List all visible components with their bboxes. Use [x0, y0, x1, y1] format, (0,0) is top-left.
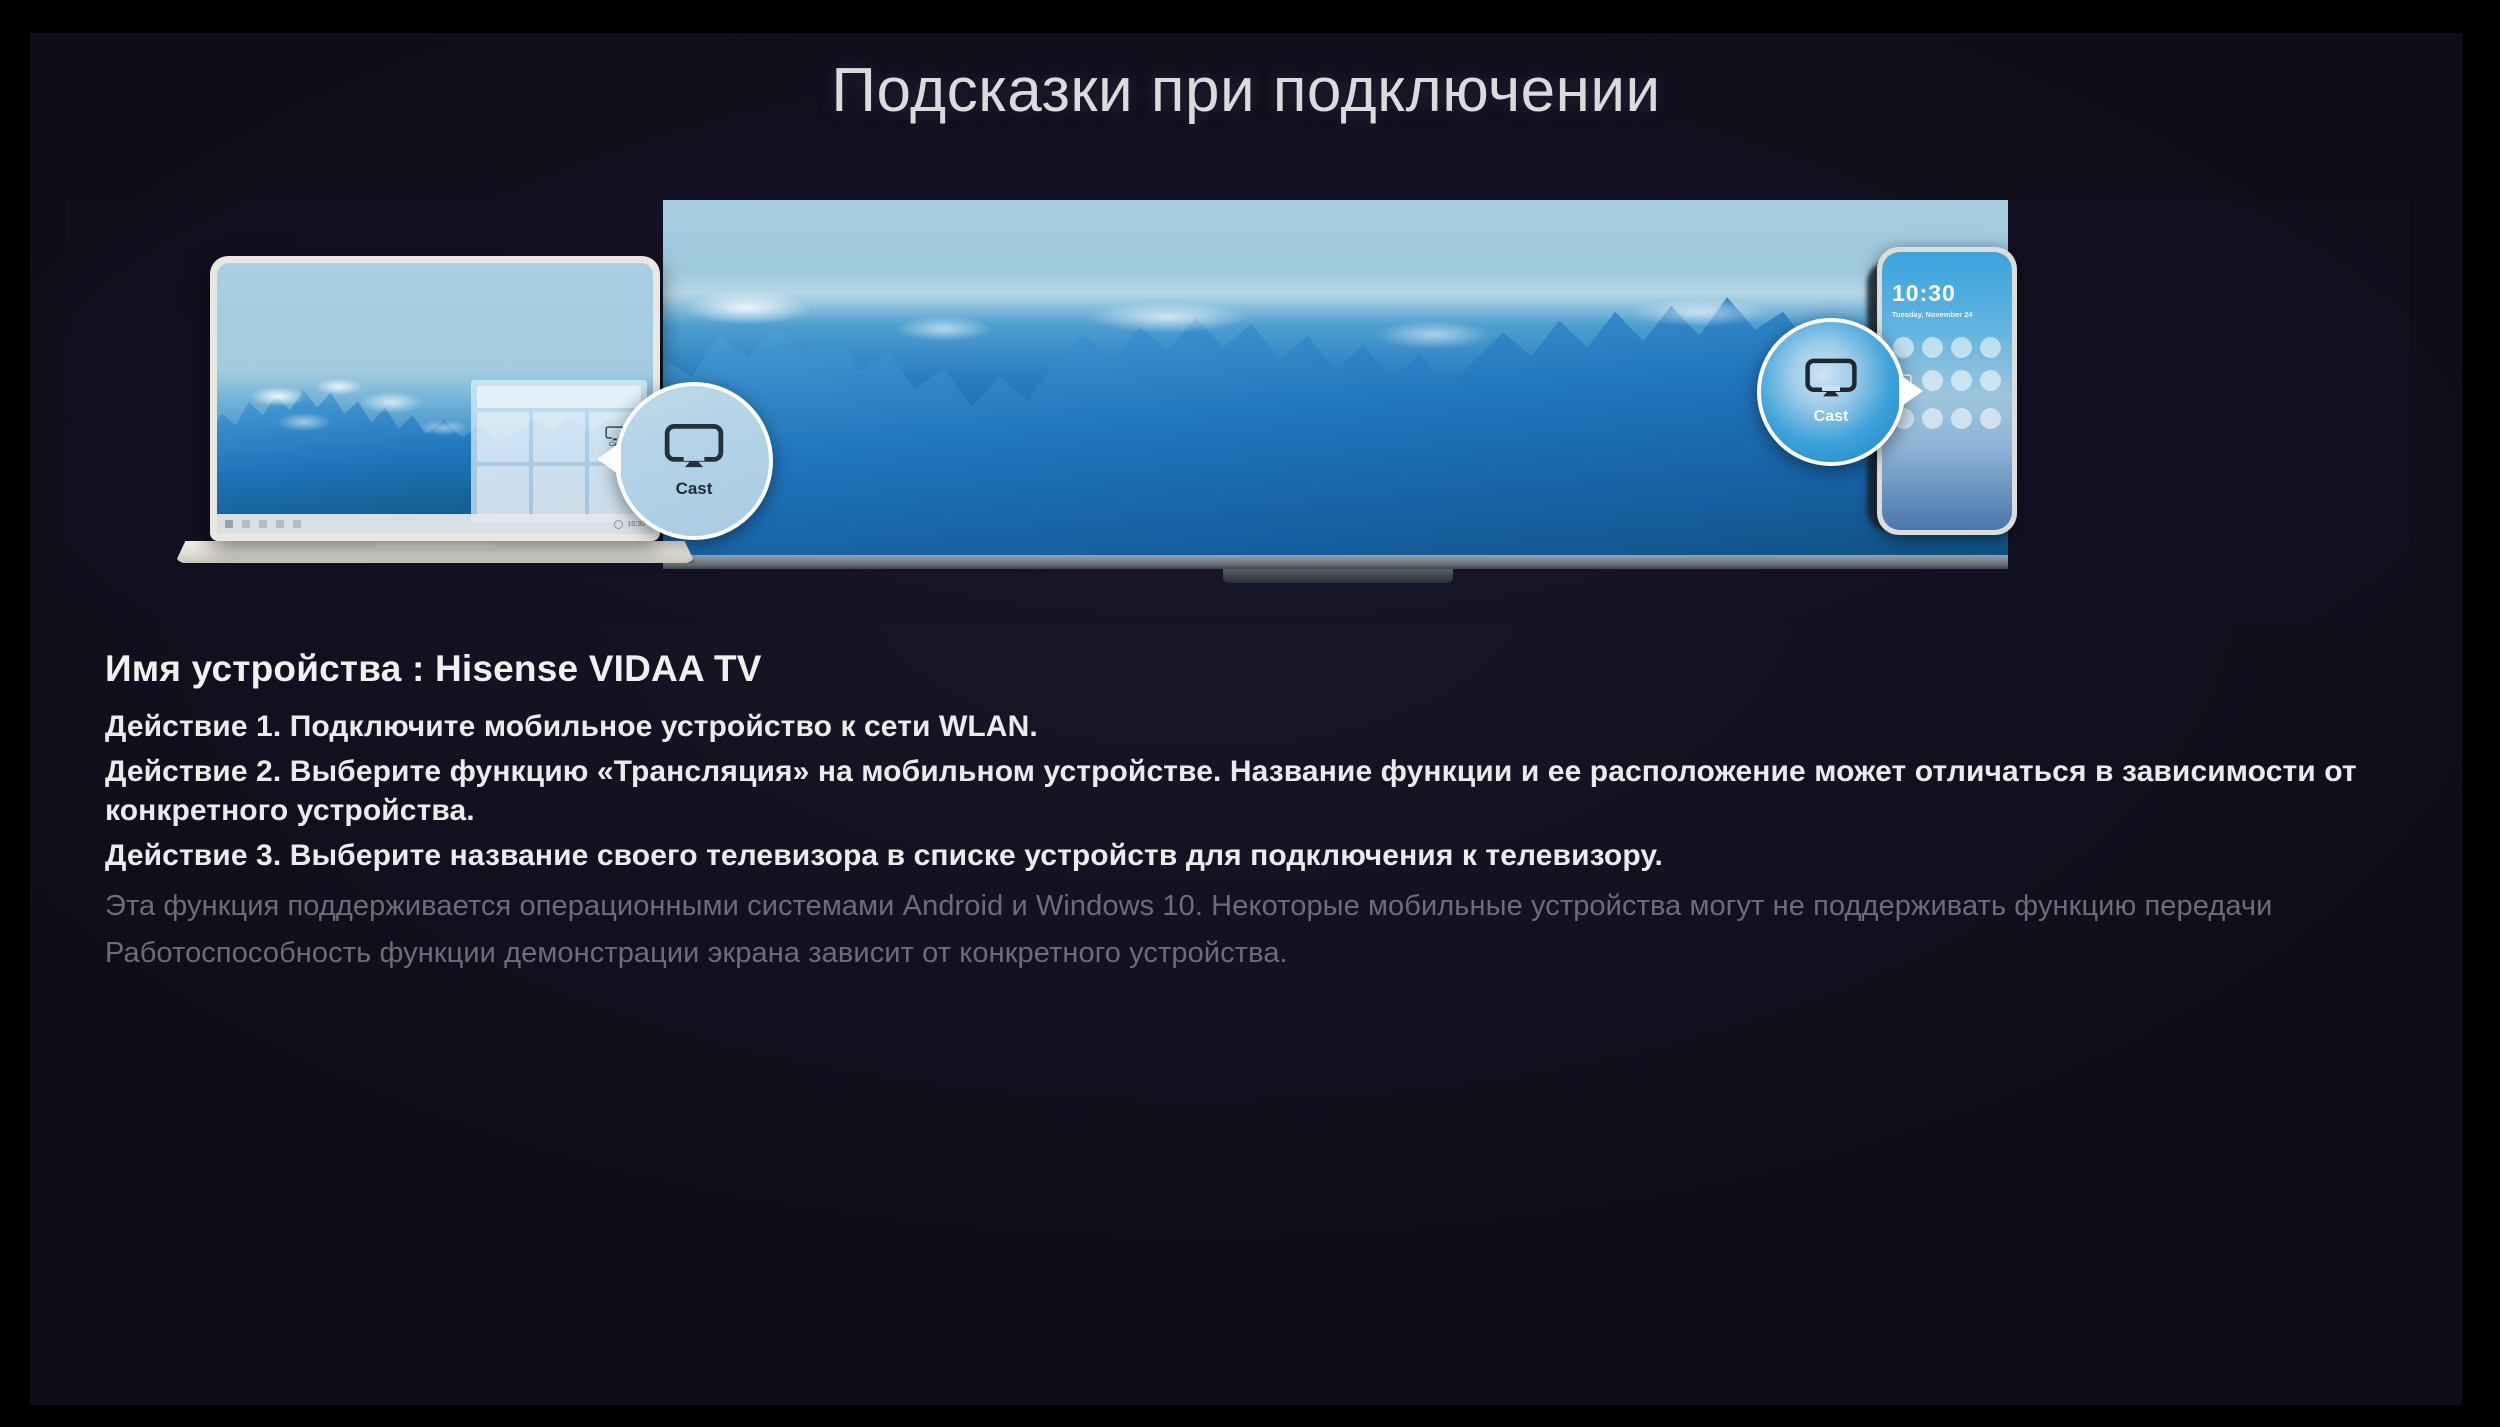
- step-2: Действие 2. Выберите функцию «Трансляция…: [105, 752, 2395, 831]
- laptop-screen: Cast: [217, 263, 653, 534]
- app-circle-icon: [1893, 337, 1914, 358]
- cast-badge-label: Cast: [676, 479, 713, 499]
- laptop-taskbar[interactable]: 10:30: [217, 514, 653, 534]
- laptop-base-notch: [375, 543, 495, 547]
- cast-badge-label: Cast: [1814, 408, 1849, 426]
- page-content: Подсказки при подключении: [30, 33, 2462, 1405]
- phone-clock: 10:30: [1892, 282, 2002, 305]
- action-center-slider-row[interactable]: [477, 386, 641, 408]
- step-3: Действие 3. Выберите название своего тел…: [105, 836, 2395, 876]
- callout-pointer: [597, 442, 621, 476]
- callout-pointer: [1899, 374, 1923, 408]
- taskbar-clock-area[interactable]: 10:30: [614, 520, 645, 529]
- phone-app-icon[interactable]: [1951, 337, 1973, 361]
- step-1: Действие 1. Подключите мобильное устройс…: [105, 707, 2395, 747]
- app-circle-icon: [1951, 337, 1972, 358]
- phone-app-icon[interactable]: [1980, 337, 2002, 361]
- phone-app-icon[interactable]: [1921, 337, 1943, 361]
- info-text-block: Имя устройства : Hisense VIDAA TV Действ…: [105, 648, 2395, 973]
- quick-tile[interactable]: [477, 412, 529, 462]
- app-circle-icon: [1980, 370, 2001, 391]
- network-icon: [614, 520, 623, 529]
- taskbar-app-icon[interactable]: [293, 520, 301, 528]
- phone-app-icon[interactable]: [1921, 370, 1943, 399]
- app-circle-icon: [1951, 408, 1972, 429]
- phone-app-icon[interactable]: [1980, 408, 2002, 432]
- laptop-lid: Cast: [210, 256, 660, 541]
- phone-date: Tuesday, November 24: [1892, 310, 2002, 319]
- tv-screen-root: Подсказки при подключении: [0, 0, 2500, 1427]
- app-circle-icon: [1922, 370, 1943, 391]
- tv-bottom-bezel: [663, 555, 2008, 569]
- laptop-mockup: Cast: [175, 256, 695, 572]
- start-menu-icon[interactable]: [225, 520, 233, 528]
- device-name-line: Имя устройства : Hisense VIDAA TV: [105, 648, 2395, 690]
- quick-tile[interactable]: [533, 466, 585, 516]
- app-circle-icon: [1922, 408, 1943, 429]
- note-2: Работоспособность функции демонстрации э…: [105, 934, 2395, 973]
- app-circle-icon: [1922, 337, 1943, 358]
- quick-tile[interactable]: [477, 466, 529, 516]
- app-circle-icon: [1951, 370, 1972, 391]
- phone-app-icon[interactable]: [1921, 408, 1943, 432]
- phone-app-icon[interactable]: [1951, 408, 1973, 432]
- note-1: Эта функция поддерживается операционными…: [105, 887, 2395, 926]
- tv-stand: [1223, 569, 1453, 583]
- quick-tile[interactable]: [533, 412, 585, 462]
- app-circle-icon: [1980, 408, 2001, 429]
- app-circle-icon: [1980, 337, 2001, 358]
- cast-badge-laptop[interactable]: Cast: [615, 382, 773, 540]
- page-title: Подсказки при подключении: [30, 55, 2462, 126]
- cast-icon: [663, 423, 725, 469]
- taskbar-app-icon[interactable]: [242, 520, 250, 528]
- cast-icon: [1804, 358, 1858, 398]
- illustration-panel: Cast: [65, 200, 2410, 623]
- cast-badge-phone[interactable]: Cast: [1757, 318, 1905, 466]
- taskbar-app-icon[interactable]: [259, 520, 267, 528]
- taskbar-app-icon[interactable]: [276, 520, 284, 528]
- phone-app-icon[interactable]: [1951, 370, 1973, 399]
- phone-app-icon[interactable]: [1980, 370, 2002, 399]
